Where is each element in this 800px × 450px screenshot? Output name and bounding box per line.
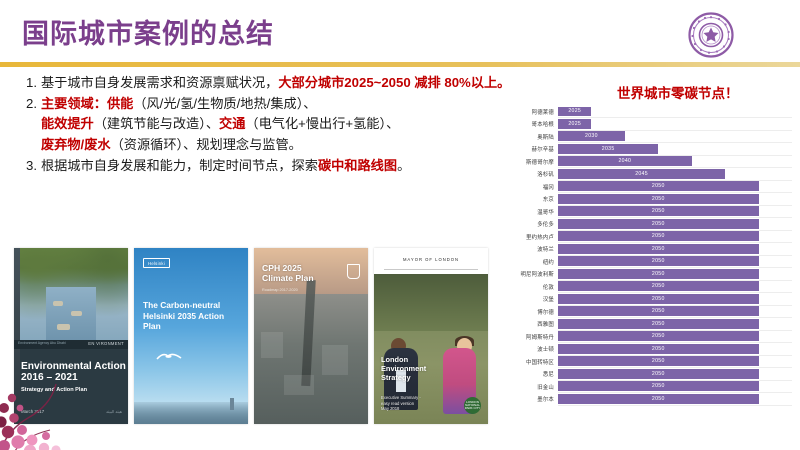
chart-row: 明尼阿波利斯2050 — [492, 268, 792, 280]
chart-row: 斯德哥尔摩2040 — [492, 156, 792, 168]
cover-4-sub-line2: easy read version — [381, 401, 414, 406]
bullet-list: 1. 基于城市自身发展需求和资源禀赋状况， 大部分城市2025~2050 减排 … — [18, 74, 538, 178]
chart-row-track: 2050 — [558, 180, 792, 193]
chart-row-track: 2050 — [558, 293, 792, 306]
chart-bar-value: 2025 — [568, 108, 581, 114]
seagull-icon — [156, 348, 182, 357]
cover-1-subtitle: Strategy and Action Plan — [21, 387, 87, 393]
chart-bar-value: 2050 — [652, 208, 665, 214]
title-divider — [0, 62, 800, 67]
chart-bar: 2050 — [558, 256, 759, 266]
chart-row-track: 2050 — [558, 330, 792, 343]
chart-row-label: 里约热内卢 — [492, 233, 558, 241]
chart-bar-value: 2050 — [652, 183, 665, 189]
chart-bar-value: 2050 — [652, 233, 665, 239]
cover-1-title: Environmental Action 2016 – 2021 — [21, 361, 126, 384]
chart-bar: 2050 — [558, 306, 759, 316]
cover-3-block — [261, 332, 283, 358]
chart-row-label: 博尔德 — [492, 308, 558, 316]
chart-rows: 阿德莱德2025哥本哈根2025奥斯陆2030赫尔辛基2035斯德哥尔摩2040… — [492, 106, 792, 442]
cover-3-block — [284, 375, 314, 395]
chart-row-label: 波士顿 — [492, 345, 558, 353]
chart-row: 多伦多2050 — [492, 218, 792, 230]
chart-row-label: 多伦多 — [492, 220, 558, 228]
chart-row-track: 2050 — [558, 205, 792, 218]
cover-1-brand: EN VIRONMENT — [88, 341, 124, 346]
chart-row-track: 2025 — [558, 106, 792, 119]
chart-bar: 2050 — [558, 194, 759, 204]
chart-row-track: 2050 — [558, 355, 792, 368]
bullet-2-seg-3: （风/光/氢/生物质/地热/集成）、 — [133, 95, 316, 114]
bullet-2b-seg-2: （建筑节能与改造）、 — [94, 115, 219, 134]
bullet-2-seg-1: 主要领域： — [41, 95, 107, 114]
chart-bar-value: 2050 — [652, 358, 665, 364]
cover-1-pad — [57, 324, 70, 330]
cover-1-date: March 2017 — [21, 409, 44, 414]
chart-bar: 2035 — [558, 144, 658, 154]
chart-row: 波特兰2050 — [492, 243, 792, 255]
university-seal-icon — [688, 12, 734, 58]
bullet-number-3: 3. — [18, 157, 41, 176]
national-park-city-seal-icon: LONDON NATIONAL PARK CITY — [464, 397, 481, 414]
chart-row-label: 中国转特区 — [492, 358, 558, 366]
chart-row-track: 2050 — [558, 230, 792, 243]
chart-bar: 2050 — [558, 231, 759, 241]
chart-row: 阿姆斯特丹2050 — [492, 331, 792, 343]
cover-3-title-line1: CPH 2025 — [262, 263, 302, 273]
chart-row-track: 2030 — [558, 130, 792, 143]
chart-row-track: 2050 — [558, 193, 792, 206]
copenhagen-crest-icon — [347, 264, 360, 279]
chart-bar: 2050 — [558, 269, 759, 279]
cover-4-title-line3: Strategy — [381, 373, 411, 382]
chart-row-label: 纽约 — [492, 258, 558, 266]
chart-row-track: 2050 — [558, 380, 792, 393]
chart-bar-value: 2050 — [652, 333, 665, 339]
cover-2-badge: Helsinki — [143, 258, 170, 268]
bullet-item-2: 2. 主要领域： 供能 （风/光/氢/生物质/地热/集成）、 — [18, 95, 538, 114]
bullet-3-seg-2: 碳中和路线图 — [318, 157, 397, 176]
cover-3-subtitle: Roadmap 2017-2020 — [262, 288, 298, 292]
bullet-item-1: 1. 基于城市自身发展需求和资源禀赋状况， 大部分城市2025~2050 减排 … — [18, 74, 538, 93]
chart-bar-value: 2025 — [568, 121, 581, 127]
bullet-3-seg-1: 根据城市自身发展和能力，制定时间节点，探索 — [41, 157, 318, 176]
chart-bar-value: 2050 — [652, 346, 665, 352]
chart-row-label: 西雅图 — [492, 320, 558, 328]
chart-row-track: 2050 — [558, 305, 792, 318]
chart-row: 赫尔辛基2035 — [492, 143, 792, 155]
chart-row-track: 2045 — [558, 168, 792, 181]
chart-bar: 2050 — [558, 206, 759, 216]
chart-bar-value: 2050 — [652, 246, 665, 252]
cover-4-rule — [384, 269, 478, 270]
chart-row-label: 旧金山 — [492, 383, 558, 391]
cover-4-subtitle: Executive Summary - easy read version Ma… — [381, 395, 421, 412]
chart-bar: 2050 — [558, 331, 759, 341]
bullet-number-2: 2. — [18, 95, 41, 114]
chart-bar: 2030 — [558, 131, 625, 141]
chart-row: 汉堡2050 — [492, 293, 792, 305]
chart-bar-value: 2050 — [652, 196, 665, 202]
chart-bar-value: 2050 — [652, 308, 665, 314]
cover-4-treeline — [374, 274, 488, 331]
cover-4-sub-line1: Executive Summary - — [381, 395, 421, 400]
chart-bar-value: 2050 — [652, 396, 665, 402]
chart-bar-value: 2045 — [635, 171, 648, 177]
chart-bar: 2050 — [558, 181, 759, 191]
chart-bar: 2025 — [558, 119, 591, 129]
chart-bar: 2045 — [558, 169, 725, 179]
chart-row-label: 赫尔辛基 — [492, 145, 558, 153]
bullet-3-seg-3: 。 — [397, 157, 410, 176]
cover-1-pad — [53, 301, 63, 306]
chart-row-label: 明尼阿波利斯 — [492, 270, 558, 278]
cover-3-block — [322, 345, 348, 375]
chart-bar-value: 2050 — [652, 258, 665, 264]
chart-row: 温哥华2050 — [492, 206, 792, 218]
page-title: 国际城市案例的总结 — [22, 12, 274, 51]
chart-bar: 2050 — [558, 394, 759, 404]
chart-row-track: 2050 — [558, 318, 792, 331]
cover-3-title: CPH 2025 Climate Plan — [262, 264, 314, 284]
chart-bar: 2050 — [558, 381, 759, 391]
chart-bar: 2050 — [558, 356, 759, 366]
chart-row-track: 2050 — [558, 255, 792, 268]
chart-bar: 2050 — [558, 219, 759, 229]
bullet-1-seg-2: 大部分城市2025~2050 减排 80%以上。 — [278, 74, 510, 93]
chart-row-label: 汉堡 — [492, 295, 558, 303]
chart-row: 纽约2050 — [492, 256, 792, 268]
report-cover-strip: Environment Agency Abu Dhabi EN VIRONMEN… — [14, 248, 492, 424]
chart-bar-value: 2035 — [602, 146, 615, 152]
chart-row: 福冈2050 — [492, 181, 792, 193]
chart-row-label: 福冈 — [492, 183, 558, 191]
chart-bar: 2040 — [558, 156, 692, 166]
chart-row-track: 2050 — [558, 343, 792, 356]
chart-row: 波士顿2050 — [492, 343, 792, 355]
chart-row-track: 2050 — [558, 268, 792, 281]
chart-row: 阿德莱德2025 — [492, 106, 792, 118]
cover-1-title-line1: Environmental Action — [21, 361, 126, 372]
chart-bar: 2050 — [558, 344, 759, 354]
chart-row: 伦敦2050 — [492, 281, 792, 293]
cover-1-footer-right: هيئة البيئة — [106, 409, 122, 414]
bullet-1-seg-1: 基于城市自身发展需求和资源禀赋状况， — [41, 74, 278, 93]
bullet-2c-seg-2: （资源循环）、规划理念与监管。 — [111, 136, 302, 155]
chart-row-label: 波特兰 — [492, 245, 558, 253]
chart-row: 旧金山2050 — [492, 381, 792, 393]
cover-copenhagen: CPH 2025 Climate Plan Roadmap 2017-2020 — [254, 248, 368, 424]
cover-4-title-line2: Environment — [381, 364, 426, 373]
chart-row: 西雅图2050 — [492, 318, 792, 330]
chart-row-track: 2050 — [558, 368, 792, 381]
chart-row-label: 温哥华 — [492, 208, 558, 216]
cover-4-title: London Environment Strategy — [381, 355, 426, 382]
chart-row-label: 阿姆斯特丹 — [492, 333, 558, 341]
zero-carbon-timeline-chart: 阿德莱德2025哥本哈根2025奥斯陆2030赫尔辛基2035斯德哥尔摩2040… — [492, 106, 792, 442]
bullet-2-seg-2: 供能 — [107, 95, 133, 114]
chart-row-label: 洛杉矶 — [492, 170, 558, 178]
chart-row: 墨尔本2050 — [492, 393, 792, 405]
chart-row-label: 墨尔本 — [492, 395, 558, 403]
chart-row-label: 阿德莱德 — [492, 108, 558, 116]
cover-london: MAYOR OF LONDON London Environment Strat… — [374, 248, 488, 424]
bullet-2c-seg-1: 废弃物/废水 — [41, 136, 111, 155]
chart-bar: 2050 — [558, 319, 759, 329]
bullet-number-1: 1. — [18, 74, 41, 93]
chart-bar-value: 2050 — [652, 283, 665, 289]
chart-row-track: 2050 — [558, 218, 792, 231]
chart-row: 奥斯陆2030 — [492, 131, 792, 143]
chart-row-label: 伦敦 — [492, 283, 558, 291]
bullet-item-3: 3. 根据城市自身发展和能力，制定时间节点，探索 碳中和路线图 。 — [18, 157, 538, 176]
chart-bar-value: 2050 — [652, 321, 665, 327]
bullet-2b-seg-4: （电气化+慢出行+氢能）、 — [245, 115, 399, 134]
cover-2-title: The Carbon-neutral Helsinki 2035 Action … — [143, 300, 241, 332]
cover-3-title-line2: Climate Plan — [262, 273, 314, 283]
cover-2-spire — [230, 398, 234, 410]
chart-bar: 2025 — [558, 107, 591, 117]
chart-bar-value: 2030 — [585, 133, 598, 139]
chart-row: 哥本哈根2025 — [492, 118, 792, 130]
cover-1-side-strip — [14, 248, 20, 424]
chart-bar-value: 2050 — [652, 271, 665, 277]
chart-bar-value: 2040 — [618, 158, 631, 164]
chart-bar-value: 2050 — [652, 221, 665, 227]
chart-row-track: 2050 — [558, 280, 792, 293]
cover-4-title-line1: London — [381, 355, 408, 364]
bullet-2b-seg-3: 交通 — [219, 115, 245, 134]
chart-row: 悉尼2050 — [492, 368, 792, 380]
cover-3-road — [301, 280, 316, 386]
cover-1-pad — [71, 311, 82, 316]
chart-row: 东京2050 — [492, 193, 792, 205]
chart-callout-title: 世界城市零碳节点！ — [617, 82, 739, 102]
chart-row-label: 东京 — [492, 195, 558, 203]
bullet-2b-seg-1: 能效提升 — [41, 115, 94, 134]
chart-bar: 2050 — [558, 369, 759, 379]
cover-4-sub-line3: May 2018 — [381, 406, 399, 411]
cover-1-title-line2: 2016 – 2021 — [21, 372, 78, 383]
chart-row-track: 2035 — [558, 143, 792, 156]
chart-bar: 2050 — [558, 281, 759, 291]
chart-row-label: 奥斯陆 — [492, 133, 558, 141]
cover-abu-dhabi: Environment Agency Abu Dhabi EN VIRONMEN… — [14, 248, 128, 424]
cover-helsinki: Helsinki The Carbon-neutral Helsinki 203… — [134, 248, 248, 424]
cover-4-header: MAYOR OF LONDON — [374, 257, 488, 262]
chart-row-label: 悉尼 — [492, 370, 558, 378]
chart-row-track: 2025 — [558, 118, 792, 131]
chart-row-track: 2050 — [558, 393, 792, 406]
chart-bar: 2050 — [558, 244, 759, 254]
chart-row-label: 斯德哥尔摩 — [492, 158, 558, 166]
chart-bar-value: 2050 — [652, 296, 665, 302]
chart-bar: 2050 — [558, 294, 759, 304]
slide-root: 国际城市案例的总结 1. 基于城市自身发展需求和资源禀赋状况， 大部 — [0, 0, 800, 450]
chart-bar-value: 2050 — [652, 383, 665, 389]
chart-bar-value: 2050 — [652, 371, 665, 377]
chart-row: 博尔德2050 — [492, 306, 792, 318]
bullet-item-2b: 能效提升 （建筑节能与改造）、 交通 （电气化+慢出行+氢能）、 — [18, 115, 538, 134]
chart-row-label: 哥本哈根 — [492, 120, 558, 128]
chart-row-track: 2040 — [558, 155, 792, 168]
bullet-item-2c: 废弃物/废水 （资源循环）、规划理念与监管。 — [18, 136, 538, 155]
cover-1-brand-left: Environment Agency Abu Dhabi — [18, 341, 66, 345]
chart-row: 里约热内卢2050 — [492, 231, 792, 243]
chart-row-track: 2050 — [558, 243, 792, 256]
chart-row: 洛杉矶2045 — [492, 168, 792, 180]
chart-row: 中国转特区2050 — [492, 356, 792, 368]
